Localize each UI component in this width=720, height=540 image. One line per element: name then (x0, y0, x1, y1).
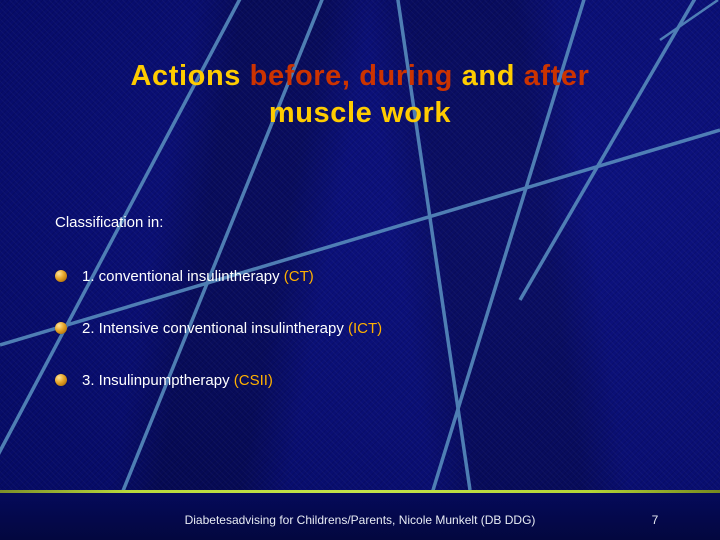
gold-sphere-bullet-icon (55, 270, 67, 282)
list-item-text: 3. Insulinpumptherapy (CSII) (82, 372, 273, 389)
list-item-accent: (CSII) (234, 372, 273, 389)
footer-credit: Diabetesadvising for Childrens/Parents, … (0, 513, 720, 527)
decor-line-6 (520, 0, 700, 300)
title-segment-and: and (462, 60, 524, 92)
slide-title: Actions before, during and after muscle … (40, 58, 680, 132)
title-segment-before-during: before, during (250, 60, 462, 92)
list-item-text: 2. Intensive conventional insulintherapy… (82, 320, 382, 337)
bullet-list: 1. conventional insulintherapy (CT) 2. I… (55, 264, 655, 420)
list-item-accent: (ICT) (348, 320, 382, 337)
gold-sphere-bullet-icon (55, 322, 67, 334)
title-segment-after: after (524, 60, 590, 92)
list-item-main: 3. Insulinpumptherapy (82, 372, 234, 389)
title-segment-actions: Actions (130, 60, 249, 92)
title-line-two: muscle work (40, 95, 680, 132)
list-item: 3. Insulinpumptherapy (CSII) (55, 368, 655, 392)
list-item-accent: (CT) (284, 268, 314, 285)
list-item: 2. Intensive conventional insulintherapy… (55, 316, 655, 340)
intro-label: Classification in: (55, 214, 163, 231)
footer-divider-line (0, 490, 720, 493)
page-number: 7 (640, 513, 670, 527)
list-item-main: 1. conventional insulintherapy (82, 268, 284, 285)
gold-sphere-bullet-icon (55, 374, 67, 386)
list-item-main: 2. Intensive conventional insulintherapy (82, 320, 348, 337)
presentation-slide: Actions before, during and after muscle … (0, 0, 720, 540)
list-item-text: 1. conventional insulintherapy (CT) (82, 268, 314, 285)
list-item: 1. conventional insulintherapy (CT) (55, 264, 655, 288)
